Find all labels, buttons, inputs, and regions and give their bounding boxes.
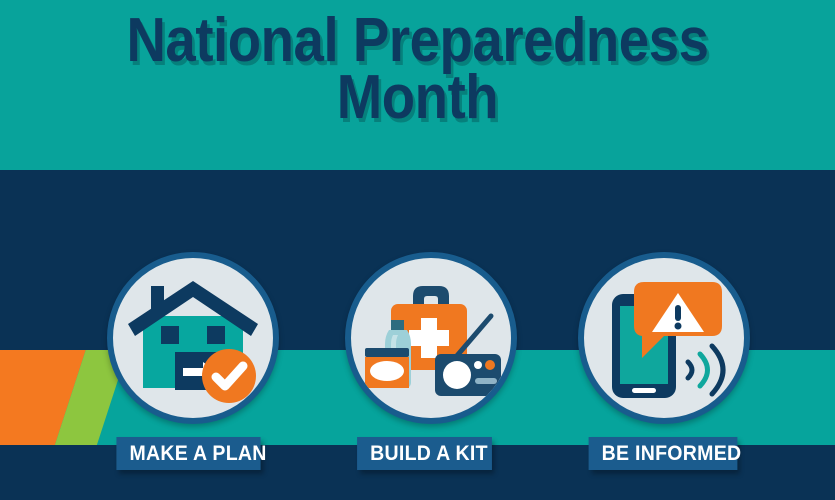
feature-item-make-a-plan[interactable] xyxy=(107,252,279,424)
feature-item-build-a-kit[interactable] xyxy=(345,252,517,424)
phone-alert-icon xyxy=(584,258,744,418)
icon-circle xyxy=(578,252,750,424)
house-with-arrow-and-check-icon xyxy=(113,258,273,418)
feature-item-be-informed[interactable] xyxy=(578,252,750,424)
label-build-a-kit[interactable]: BUILD A KIT xyxy=(357,437,492,470)
page-title: National Preparedness Month xyxy=(50,12,785,126)
icon-circle xyxy=(107,252,279,424)
emergency-kit-icon xyxy=(351,258,511,418)
preparedness-poster: National Preparedness Month xyxy=(0,0,835,500)
label-be-informed[interactable]: BE INFORMED xyxy=(589,437,738,470)
label-make-a-plan[interactable]: MAKE A PLAN xyxy=(116,437,260,470)
icon-circle xyxy=(345,252,517,424)
